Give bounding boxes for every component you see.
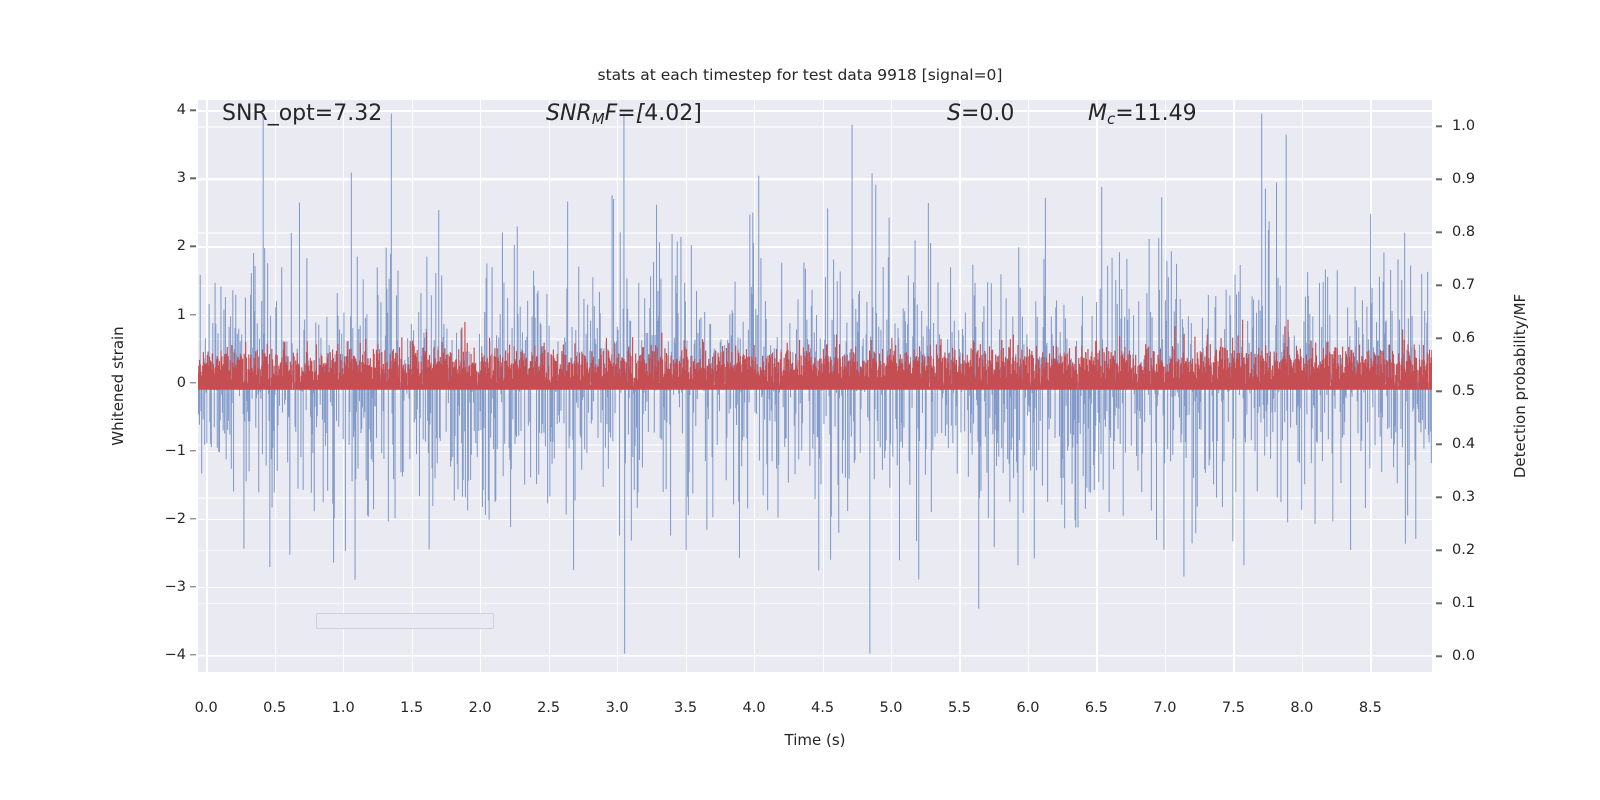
y-tick-label-right: 0.5	[1452, 383, 1492, 399]
x-tick-label: 6.0	[998, 700, 1058, 716]
y-tick-mark-right	[1436, 549, 1442, 550]
annotation-snr-mf-value: 4.02	[644, 101, 693, 126]
y-tick-mark-left	[190, 586, 196, 587]
y-tick-label-right: 0.8	[1452, 224, 1492, 240]
y-tick-label-right: 0.6	[1452, 330, 1492, 346]
annotation-snr-mf: SNRMF=[4.02]	[546, 101, 702, 128]
annotation-snr-mf-mid: F=[	[605, 101, 645, 126]
y-tick-label-left: 3	[152, 170, 186, 186]
y-tick-label-right: 1.0	[1452, 118, 1492, 134]
annotation-snr-opt-prefix: SNR_opt=	[222, 101, 333, 126]
y-tick-mark-right	[1436, 655, 1442, 656]
y-axis-label-left: Whitened strain	[109, 326, 127, 445]
annotation-chirp-mass-value: 11.49	[1134, 101, 1197, 126]
y-tick-label-left: −3	[152, 579, 186, 595]
x-tick-label: 2.0	[450, 700, 510, 716]
annotation-s-stat: S=0.0	[947, 101, 1014, 126]
annotation-s-stat-mid: =	[961, 101, 979, 126]
y-tick-mark-right	[1436, 497, 1442, 498]
x-tick-label: 0.0	[176, 700, 236, 716]
x-tick-label: 4.0	[724, 700, 784, 716]
x-tick-label: 5.0	[861, 700, 921, 716]
y-tick-mark-left	[190, 110, 196, 111]
y-tick-label-left: 1	[152, 307, 186, 323]
chart-title: stats at each timestep for test data 991…	[0, 66, 1600, 84]
annotation-chirp-mass-sub: c	[1107, 110, 1115, 128]
y-tick-label-right: 0.0	[1452, 648, 1492, 664]
y-tick-label-right: 0.3	[1452, 489, 1492, 505]
x-tick-label: 5.5	[929, 700, 989, 716]
annotation-s-stat-lead: S	[947, 101, 961, 126]
y-tick-mark-right	[1436, 285, 1442, 286]
y-tick-mark-right	[1436, 444, 1442, 445]
x-axis-label: Time (s)	[785, 731, 846, 749]
y-tick-mark-right	[1436, 338, 1442, 339]
x-tick-label: 4.5	[793, 700, 853, 716]
y-tick-label-left: 2	[152, 238, 186, 254]
y-tick-label-right: 0.1	[1452, 595, 1492, 611]
y-tick-label-left: 0	[152, 375, 186, 391]
annotation-snr-opt-value: 7.32	[333, 101, 382, 126]
y-tick-mark-right	[1436, 126, 1442, 127]
y-tick-label-left: −4	[152, 647, 186, 663]
x-tick-label: 1.0	[313, 700, 373, 716]
y-tick-mark-right	[1436, 602, 1442, 603]
plot-area	[198, 100, 1432, 672]
annotation-snr-opt: SNR_opt=7.32	[222, 101, 382, 126]
y-tick-label-left: 4	[152, 102, 186, 118]
y-tick-label-right: 0.9	[1452, 171, 1492, 187]
y-tick-mark-left	[190, 450, 196, 451]
x-tick-label: 3.5	[656, 700, 716, 716]
x-tick-label: 1.5	[382, 700, 442, 716]
x-tick-label: 7.5	[1203, 700, 1263, 716]
annotation-chirp-mass-mid: =	[1115, 101, 1133, 126]
y-tick-mark-left	[190, 382, 196, 383]
plot-traces	[198, 100, 1432, 672]
y-tick-label-left: −2	[152, 511, 186, 527]
y-tick-mark-right	[1436, 179, 1442, 180]
x-tick-label: 8.5	[1340, 700, 1400, 716]
x-tick-label: 3.0	[587, 700, 647, 716]
trace-matched-filter	[198, 320, 1432, 390]
annotation-chirp-mass-lead: M	[1088, 101, 1107, 126]
y-tick-mark-left	[190, 178, 196, 179]
x-tick-label: 7.0	[1135, 700, 1195, 716]
x-tick-label: 0.5	[245, 700, 305, 716]
figure-canvas: stats at each timestep for test data 991…	[0, 0, 1600, 800]
annotation-chirp-mass: Mc=11.49	[1088, 101, 1197, 128]
annotation-snr-mf-tail: ]	[693, 101, 702, 126]
y-tick-mark-right	[1436, 391, 1442, 392]
y-tick-label-right: 0.4	[1452, 436, 1492, 452]
y-tick-label-left: −1	[152, 443, 186, 459]
y-tick-label-right: 0.7	[1452, 277, 1492, 293]
y-tick-mark-left	[190, 314, 196, 315]
x-tick-label: 2.5	[519, 700, 579, 716]
x-tick-label: 6.5	[1066, 700, 1126, 716]
y-tick-mark-left	[190, 518, 196, 519]
annotation-snr-mf-lead: SNR	[546, 101, 592, 126]
y-tick-mark-left	[190, 654, 196, 655]
annotation-s-stat-value: 0.0	[979, 101, 1014, 126]
legend	[316, 613, 494, 629]
y-tick-mark-right	[1436, 232, 1442, 233]
y-tick-mark-left	[190, 246, 196, 247]
annotation-snr-mf-sub: M	[592, 110, 605, 128]
y-tick-label-right: 0.2	[1452, 542, 1492, 558]
y-axis-label-right: Detection probability/MF	[1511, 294, 1529, 478]
x-tick-label: 8.0	[1272, 700, 1332, 716]
